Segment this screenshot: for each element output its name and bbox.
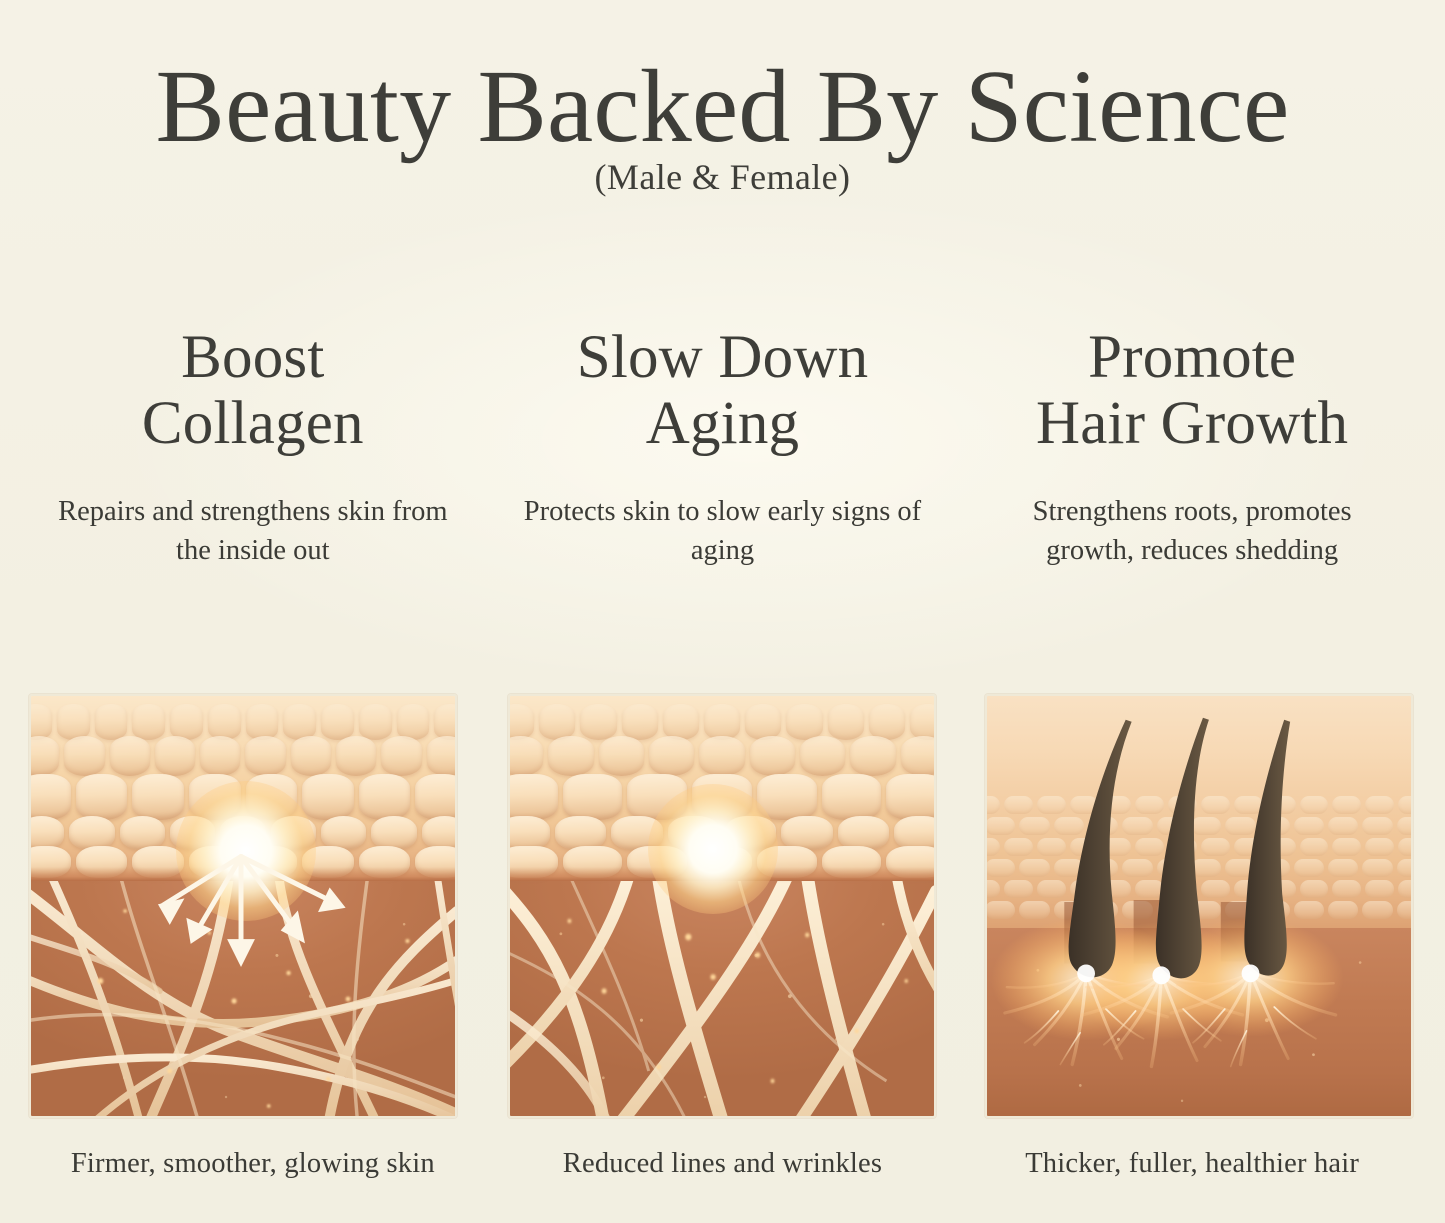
light-glow-icon <box>648 784 778 914</box>
dermis-layer <box>510 881 934 1118</box>
illustration-skin-aging <box>508 694 936 1118</box>
epidermis-cell-row <box>508 736 936 776</box>
benefit-title-line2: Aging <box>646 390 800 457</box>
page-title: Beauty Backed By Science <box>0 52 1445 162</box>
benefit-title: Slow Down Aging <box>577 325 869 465</box>
benefit-title: Promote Hair Growth <box>1036 325 1348 465</box>
benefit-title-line2: Hair Growth <box>1036 390 1348 457</box>
hair-shaft <box>1069 718 1291 979</box>
panel-captions: Firmer, smoother, glowing skin Reduced l… <box>0 1148 1445 1180</box>
epidermis-cell-row <box>508 704 936 740</box>
benefit-title-line1: Promote <box>1088 324 1296 391</box>
benefit-title-line2: Collagen <box>142 390 364 457</box>
benefit-description: Protects skin to slow early signs of agi… <box>522 492 922 571</box>
benefit-description: Repairs and strengthens skin from the in… <box>53 492 453 571</box>
infographic-page: Beauty Backed By Science (Male & Female)… <box>0 0 1445 1223</box>
benefit-columns: Boost Collagen Repairs and strengthens s… <box>0 325 1445 571</box>
absorption-arrows <box>31 696 455 1116</box>
benefit-title-line1: Boost <box>181 324 324 391</box>
header: Beauty Backed By Science (Male & Female) <box>0 52 1445 198</box>
benefit-column-collagen: Boost Collagen Repairs and strengthens s… <box>18 325 488 571</box>
benefit-column-aging: Slow Down Aging Protects skin to slow ea… <box>488 325 958 571</box>
illustration-panels <box>0 694 1445 1118</box>
panel-caption: Firmer, smoother, glowing skin <box>18 1148 488 1180</box>
benefit-title: Boost Collagen <box>142 325 364 465</box>
benefit-title-line1: Slow Down <box>577 324 869 391</box>
benefit-column-hair: Promote Hair Growth Strengthens roots, p… <box>957 325 1427 571</box>
panel-caption: Reduced lines and wrinkles <box>488 1148 958 1180</box>
collagen-lattice-network <box>510 881 934 1118</box>
illustration-skin-collagen <box>29 694 457 1118</box>
panel-caption: Thicker, fuller, healthier hair <box>957 1148 1427 1180</box>
benefit-description: Strengthens roots, promotes growth, redu… <box>992 492 1392 571</box>
hair-follicle-group <box>987 696 1411 1116</box>
illustration-hair-growth <box>985 694 1413 1118</box>
